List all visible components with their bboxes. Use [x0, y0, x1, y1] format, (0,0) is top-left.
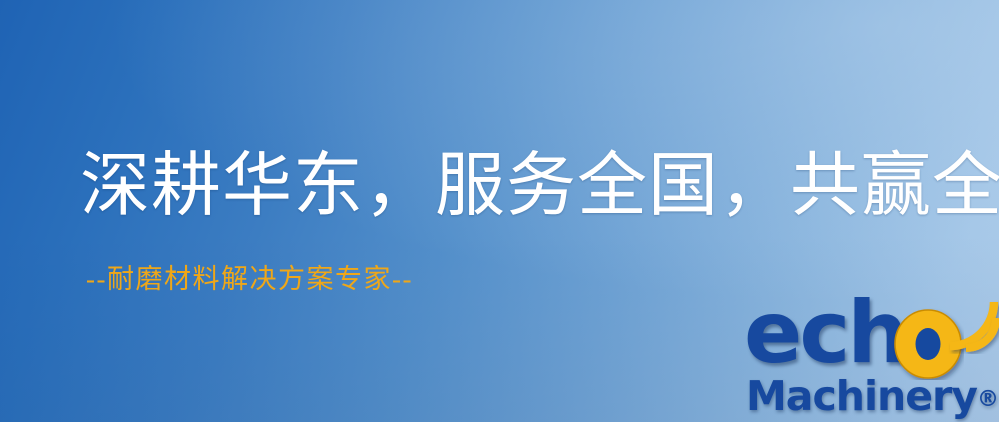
logo-tagline: Machinery® [746, 376, 999, 417]
registered-trademark-icon: ® [977, 387, 999, 412]
banner-headline: 深耕华东，服务全国，共赢全球 [80, 152, 999, 222]
logo-tagline-text: Machinery [746, 372, 977, 420]
logo-wordmark-ech: ech [744, 290, 906, 376]
logo-signal-waves-icon [940, 292, 999, 354]
banner-subheadline: --耐磨材料解决方案专家-- [86, 266, 413, 293]
hero-banner: 深耕华东，服务全国，共赢全球 --耐磨材料解决方案专家-- ech [0, 0, 999, 422]
company-logo: ech [744, 296, 999, 422]
